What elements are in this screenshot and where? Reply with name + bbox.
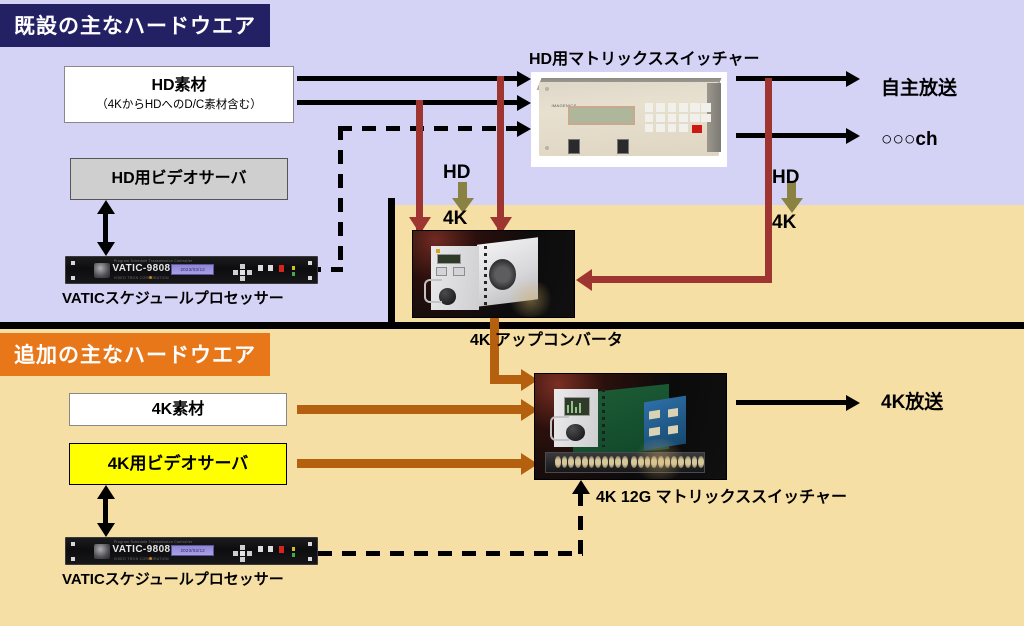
- dashed-vatic-4k-vertical: [578, 492, 583, 554]
- arrowhead-dashed-4kmatrix: [572, 480, 590, 494]
- device-vatic-processor-4k: Program Schedule Transmission Controller…: [65, 537, 318, 565]
- vatic-4k-model: VATIC-9808: [112, 544, 170, 555]
- orange-line-upconverter-right: [490, 375, 525, 384]
- 4kmatrix-vent-dots: [602, 389, 605, 448]
- label-signal-hd-left: HD: [443, 162, 470, 184]
- dashed-vatic-hd-vertical: [338, 126, 343, 271]
- vatic-4k-lcd: 2023/03/12: [171, 545, 214, 556]
- label-4k-upconverter: 4K アップコンバータ: [470, 326, 623, 350]
- box-4k-material-title: 4K素材: [152, 400, 204, 420]
- arrowhead-hd-to-4k-right: [781, 198, 803, 213]
- label-4k-12g-matrix-switcher: 4K 12G マトリックススイッチャー: [596, 483, 847, 507]
- hd-matrix-red-key: [692, 125, 702, 133]
- vatic-4k-alarm-led: [279, 546, 284, 553]
- vatic-4k-lcd-text: 2023/03/12: [173, 547, 212, 554]
- arrowhead-red-into-upconverter: [576, 269, 592, 291]
- arrowhead-dashed-hd-matrix: [517, 121, 531, 137]
- 4kmatrix-handle: [550, 416, 569, 441]
- vatic-4k-screw-tr: [308, 542, 312, 546]
- box-hd-material: HD素材 （4KからHDへのD/C素材含む）: [64, 66, 294, 123]
- arrowhead-ch: [846, 128, 860, 144]
- upconverter-lens-flare: [506, 281, 554, 317]
- vatic-hd-status-led-yellow: [292, 266, 295, 270]
- hd-matrix-switch-a: [568, 139, 580, 154]
- orange-line-4k-material: [297, 405, 525, 414]
- hd-matrix-switch-b: [617, 139, 629, 154]
- device-vatic-processor-hd: Program Schedule Transmission Controller…: [65, 256, 318, 284]
- line-hd-server-vatic: [103, 212, 108, 246]
- vatic-hd-subtitle-bottom: VIDEO TRON CORPORATION: [114, 276, 169, 280]
- box-hd-video-server: HD用ビデオサーバ: [70, 158, 288, 200]
- 4kmatrix-bnc-inputs: [555, 456, 628, 467]
- vatic-4k-status-led-yellow: [292, 547, 295, 551]
- vatic-4k-button-2: [268, 546, 273, 552]
- orange-line-4k-server: [297, 459, 525, 468]
- hd-matrix-keypad: [645, 103, 688, 132]
- hd-matrix-screw-tl: [545, 87, 549, 91]
- vatic-4k-indicator: [149, 557, 152, 560]
- hd-matrix-screw-bl: [545, 146, 549, 150]
- vatic-hd-status-led-green: [292, 272, 295, 276]
- vatic-hd-lcd-text: 2023/03/12: [173, 266, 212, 273]
- line-hd-material-to-matrix-1: [297, 76, 519, 81]
- line-hd-material-to-matrix-2: [297, 100, 519, 105]
- arrowhead-jishu: [846, 71, 860, 87]
- label-output-4k-housou: 4K放送: [881, 387, 943, 414]
- box-4k-video-server-title: 4K用ビデオサーバ: [108, 453, 249, 474]
- vatic-hd-screw-br: [308, 276, 312, 280]
- section-header-new-hardware: 追加の主なハードウエア: [0, 333, 270, 376]
- red-line-left-a: [416, 100, 423, 232]
- diagram-canvas: HD素材 （4KからHDへのD/C素材含む） HD用ビデオサーバ 4K素材 4K…: [0, 0, 1024, 626]
- vatic-4k-status-led-green: [292, 553, 295, 557]
- label-signal-4k-right: 4K: [772, 212, 796, 234]
- arrowhead-hd-material-2: [517, 95, 531, 111]
- upconverter-button-b: [453, 267, 464, 276]
- vatic-4k-subtitle-bottom: VIDEO TRON CORPORATION: [114, 557, 169, 561]
- arrowhead-4k-server-up: [97, 485, 115, 499]
- vatic-4k-screw-tl: [71, 542, 75, 546]
- box-4k-video-server: 4K用ビデオサーバ: [69, 443, 287, 485]
- vatic-hd-alarm-led: [279, 265, 284, 272]
- dashed-vatic-hd-to-matrix: [338, 126, 519, 131]
- vatic-hd-logo: [94, 263, 110, 278]
- vatic-4k-logo: [94, 544, 110, 559]
- device-hd-matrix-switcher: IMAGENICS: [531, 72, 727, 167]
- vatic-hd-lcd: 2023/03/12: [171, 264, 214, 275]
- arrowhead-hd-server-up: [97, 200, 115, 214]
- vatic-hd-button-2: [268, 265, 273, 271]
- arrowhead-hd-material-1: [517, 71, 531, 87]
- label-hd-matrix-switcher: HD用マトリックススイッチャー: [529, 45, 759, 69]
- vatic-hd-screw-bl: [71, 276, 75, 280]
- upconverter-display: [437, 254, 461, 263]
- label-output-jishu-housou: 自主放送: [881, 73, 957, 100]
- vatic-hd-indicator: [149, 276, 152, 279]
- line-matrix-to-ch: [736, 133, 848, 138]
- vatic-4k-screw-bl: [71, 557, 75, 561]
- section-header-existing-hardware: 既設の主なハードウエア: [0, 4, 270, 47]
- red-line-right-vertical: [765, 78, 772, 283]
- vatic-hd-dpad: [232, 264, 254, 280]
- 4kmatrix-display: [564, 397, 591, 416]
- box-hd-video-server-title: HD用ビデオサーバ: [112, 169, 247, 189]
- vatic-hd-screw-tr: [308, 261, 312, 265]
- box-hd-material-note: （4KからHDへのD/C素材含む）: [96, 98, 261, 112]
- vatic-4k-button-1: [258, 546, 263, 552]
- line-matrix-to-jishu: [736, 76, 848, 81]
- vatic-hd-button-1: [258, 265, 263, 271]
- hd-matrix-lcd: [568, 106, 635, 125]
- box-hd-material-title: HD素材: [151, 76, 206, 96]
- label-output-ch: ○○○ch: [881, 129, 938, 151]
- vatic-hd-screw-tl: [71, 261, 75, 265]
- red-line-right-horizontal: [592, 276, 772, 283]
- hd-matrix-keypad-secondary: [690, 103, 712, 122]
- box-4k-material: 4K素材: [69, 393, 287, 426]
- device-4k-upconverter: [412, 230, 575, 318]
- arrowhead-hd-server-down: [97, 242, 115, 256]
- upconverter-power-led: [436, 249, 440, 253]
- upconverter-vent-dots: [484, 246, 487, 308]
- dashed-vatic-4k-horizontal: [318, 551, 583, 556]
- label-vatic-processor-hd: VATICスケジュールプロセッサー: [62, 287, 284, 308]
- vatic-4k-dpad: [232, 545, 254, 561]
- upconverter-button-a: [436, 267, 447, 276]
- label-vatic-processor-4k: VATICスケジュールプロセッサー: [62, 568, 284, 589]
- 4kmatrix-lens-flare: [631, 439, 688, 480]
- device-4k-12g-matrix-switcher: [534, 373, 727, 480]
- label-signal-hd-right: HD: [772, 167, 799, 189]
- vatic-4k-screw-br: [308, 557, 312, 561]
- arrowhead-4k-server-down: [97, 523, 115, 537]
- line-4kmatrix-to-housou: [736, 400, 848, 405]
- vatic-hd-model: VATIC-9808: [112, 263, 170, 274]
- upconverter-handle: [424, 279, 442, 303]
- red-line-left-b: [497, 76, 504, 232]
- arrowhead-4k-housou: [846, 395, 860, 411]
- label-signal-4k-left: 4K: [443, 208, 467, 230]
